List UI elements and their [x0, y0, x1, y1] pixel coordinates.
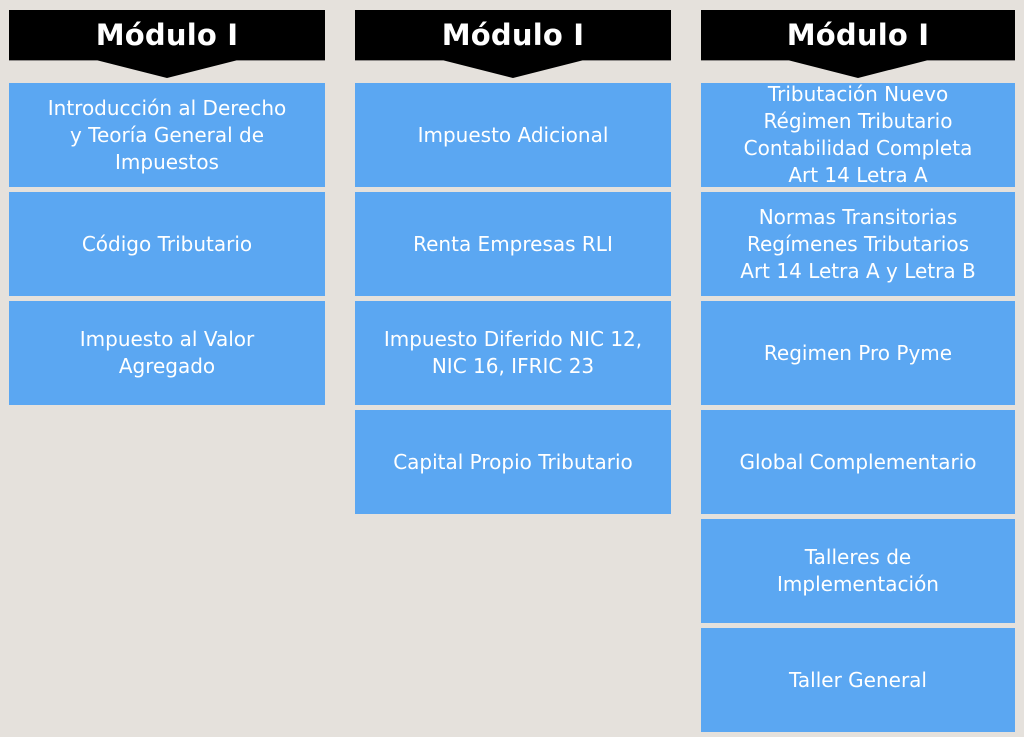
- module-header-1: Módulo I: [9, 10, 325, 78]
- module-topic-block[interactable]: Tributación Nuevo Régimen Tributario Con…: [701, 83, 1015, 187]
- module-block-list-1: Introducción al Derecho y Teoría General…: [9, 83, 325, 410]
- module-header-2: Módulo I: [355, 10, 671, 78]
- module-header-title: Módulo I: [9, 10, 325, 60]
- module-topic-label: Tributación Nuevo Régimen Tributario Con…: [744, 81, 973, 189]
- module-column-2: Módulo I Impuesto Adicional Renta Empres…: [355, 0, 671, 732]
- module-topic-block[interactable]: Capital Propio Tributario: [355, 410, 671, 514]
- modules-diagram: Módulo I Introducción al Derecho y Teorí…: [0, 0, 1024, 732]
- module-topic-label: Regimen Pro Pyme: [764, 340, 952, 367]
- module-topic-block[interactable]: Talleres de Implementación: [701, 519, 1015, 623]
- module-topic-label: Talleres de Implementación: [777, 544, 939, 598]
- module-topic-block[interactable]: Impuesto al Valor Agregado: [9, 301, 325, 405]
- module-topic-block[interactable]: Impuesto Adicional: [355, 83, 671, 187]
- module-topic-label: Capital Propio Tributario: [393, 449, 633, 476]
- module-topic-label: Global Complementario: [740, 449, 977, 476]
- module-topic-block[interactable]: Global Complementario: [701, 410, 1015, 514]
- module-topic-block[interactable]: Regimen Pro Pyme: [701, 301, 1015, 405]
- module-topic-label: Impuesto al Valor Agregado: [80, 326, 254, 380]
- module-topic-label: Código Tributario: [82, 231, 252, 258]
- module-topic-block[interactable]: Taller General: [701, 628, 1015, 732]
- module-topic-label: Renta Empresas RLI: [413, 231, 613, 258]
- module-topic-block[interactable]: Código Tributario: [9, 192, 325, 296]
- module-topic-block[interactable]: Normas Transitorias Regímenes Tributario…: [701, 192, 1015, 296]
- module-topic-label: Impuesto Diferido NIC 12, NIC 16, IFRIC …: [384, 326, 642, 380]
- module-block-list-2: Impuesto Adicional Renta Empresas RLI Im…: [355, 83, 671, 519]
- module-topic-block[interactable]: Introducción al Derecho y Teoría General…: [9, 83, 325, 187]
- module-column-3: Módulo I Tributación Nuevo Régimen Tribu…: [701, 0, 1015, 732]
- module-header-title: Módulo I: [355, 10, 671, 60]
- module-topic-label: Impuesto Adicional: [418, 122, 609, 149]
- module-topic-label: Normas Transitorias Regímenes Tributario…: [740, 204, 975, 285]
- module-topic-block[interactable]: Renta Empresas RLI: [355, 192, 671, 296]
- module-header-3: Módulo I: [701, 10, 1015, 78]
- module-header-title: Módulo I: [701, 10, 1015, 60]
- module-topic-block[interactable]: Impuesto Diferido NIC 12, NIC 16, IFRIC …: [355, 301, 671, 405]
- module-topic-label: Taller General: [789, 667, 927, 694]
- module-block-list-3: Tributación Nuevo Régimen Tributario Con…: [701, 83, 1015, 737]
- module-column-1: Módulo I Introducción al Derecho y Teorí…: [9, 0, 325, 732]
- module-topic-label: Introducción al Derecho y Teoría General…: [48, 95, 287, 176]
